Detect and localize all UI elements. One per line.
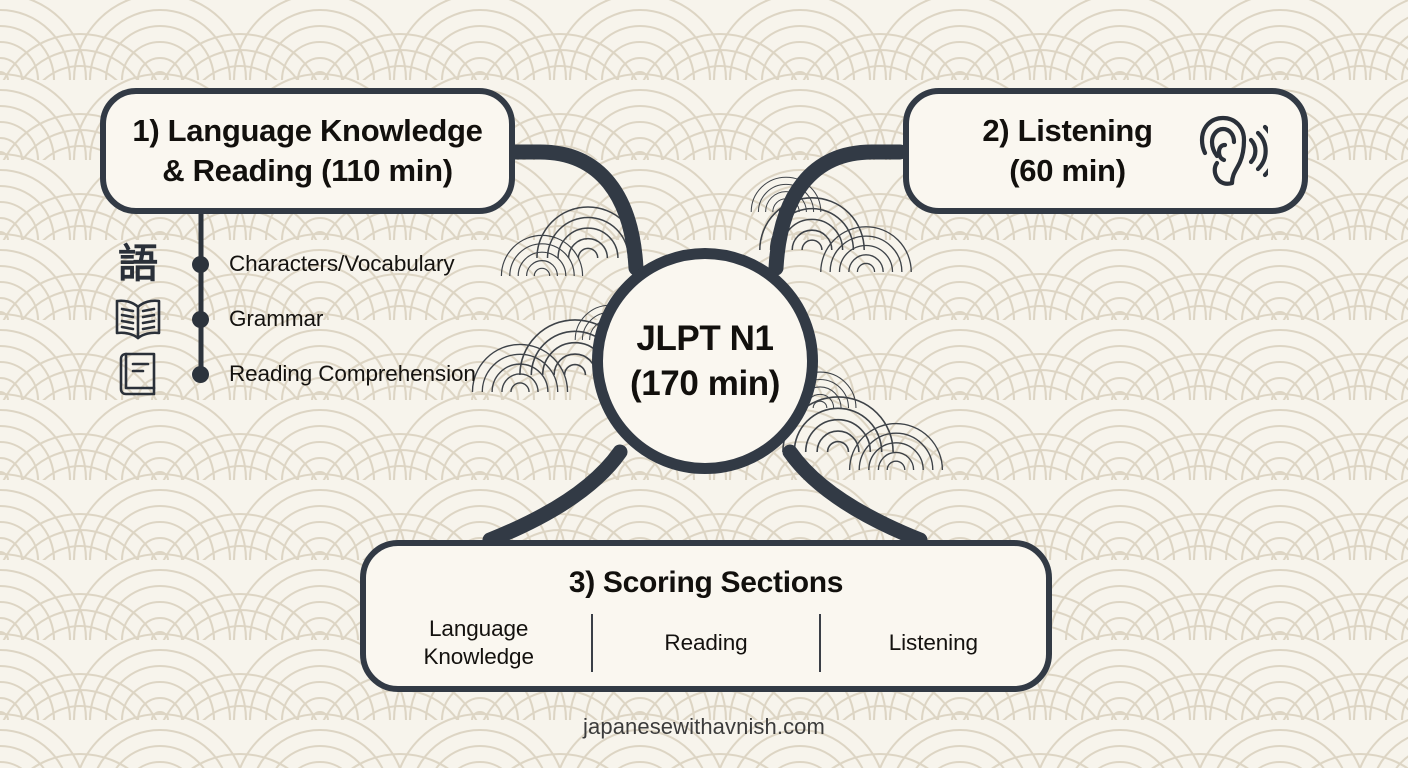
bullet-dot — [192, 311, 209, 328]
list-item: Reading Comprehension — [110, 348, 476, 400]
center-node-label: JLPT N1 (170 min) — [630, 316, 780, 407]
box-scoring-sections[interactable]: 3) Scoring Sections Language Knowledge R… — [360, 540, 1052, 692]
list-item: 語 Characters/Vocabulary — [110, 238, 455, 290]
hub-wave-accent-topright — [751, 177, 911, 272]
ear-icon — [1190, 112, 1268, 190]
box-listening[interactable]: 2) Listening (60 min) — [903, 88, 1308, 214]
box-language-knowledge-reading-title: 1) Language Knowledge & Reading (110 min… — [132, 111, 482, 190]
sublist-language-knowledge: 語 Characters/Vocabulary Grammar — [110, 228, 540, 403]
open-book-icon — [110, 294, 166, 344]
list-item-label: Grammar — [229, 306, 323, 332]
kanji-go-icon: 語 — [110, 239, 166, 289]
scoring-columns: Language Knowledge Reading Listening — [366, 612, 1046, 674]
box-language-knowledge-reading[interactable]: 1) Language Knowledge & Reading (110 min… — [100, 88, 515, 214]
closed-book-icon — [110, 349, 166, 399]
box-listening-title: 2) Listening (60 min) — [945, 111, 1190, 190]
list-item-label: Characters/Vocabulary — [229, 251, 455, 277]
box-scoring-sections-title: 3) Scoring Sections — [569, 566, 843, 600]
list-item-label: Reading Comprehension — [229, 361, 476, 387]
connector-hub-to-scoring-right — [790, 452, 920, 540]
kanji-go-glyph: 語 — [118, 244, 158, 284]
bullet-dot — [192, 366, 209, 383]
infographic-canvas: 1) Language Knowledge & Reading (110 min… — [0, 0, 1408, 768]
scoring-column-language-knowledge: Language Knowledge — [366, 615, 591, 671]
center-node-jlpt-n1[interactable]: JLPT N1 (170 min) — [592, 248, 818, 474]
connector-hub-to-scoring-left — [490, 452, 620, 540]
footer-website-credit: japanesewithavnish.com — [0, 714, 1408, 740]
list-item: Grammar — [110, 293, 323, 345]
scoring-column-reading: Reading — [593, 629, 818, 657]
connector-listening-to-hub — [776, 152, 900, 268]
bullet-dot — [192, 256, 209, 273]
scoring-column-listening: Listening — [821, 629, 1046, 657]
